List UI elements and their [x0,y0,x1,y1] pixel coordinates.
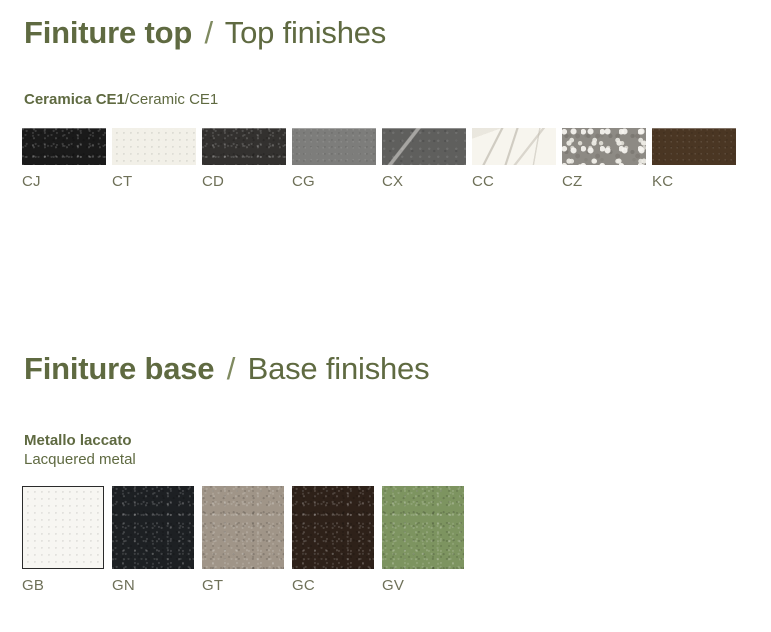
page-title-base-finishes: Finiture base / Base finishes [0,352,771,386]
material-english-lacquered-metal: Lacquered metal [24,450,771,469]
swatch-cell-cj[interactable]: CJ [22,128,112,190]
swatch-cell-cx[interactable]: CX [382,128,472,190]
swatch-color-cd[interactable] [202,128,286,165]
swatch-label-cd: CD [202,173,224,190]
title-english-base: Base finishes [248,351,430,386]
material-label-lacquered-metal: Metallo laccato Lacquered metal [0,431,771,469]
section-top-finishes: Finiture top / Top finishes Ceramica CE1… [0,0,771,190]
title-separator-base: / [223,351,239,386]
swatch-color-cj[interactable] [22,128,106,165]
title-english-top: Top finishes [225,15,386,50]
page-title-top-finishes: Finiture top / Top finishes [0,16,771,50]
swatch-row-ceramic: CJ CT CD CG CX CC [0,128,771,190]
swatch-cell-cz[interactable]: CZ [562,128,652,190]
swatch-label-cg: CG [292,173,315,190]
swatch-color-cz[interactable] [562,128,646,165]
swatch-label-gv: GV [382,577,404,594]
swatch-cell-ct[interactable]: CT [112,128,202,190]
swatch-cell-gt[interactable]: GT [202,486,292,594]
section-base-finishes: Finiture base / Base finishes Metallo la… [0,352,771,594]
swatch-color-gb[interactable] [22,486,104,569]
swatch-label-cc: CC [472,173,494,190]
title-italian-base: Finiture base [24,351,214,386]
swatch-label-cz: CZ [562,173,582,190]
swatch-label-cj: CJ [22,173,41,190]
swatch-cell-cg[interactable]: CG [292,128,382,190]
swatch-color-gc[interactable] [292,486,374,569]
finishes-page: Finiture top / Top finishes Ceramica CE1… [0,0,771,632]
swatch-label-gc: GC [292,577,315,594]
swatch-cell-cc[interactable]: CC [472,128,562,190]
title-separator-top: / [201,15,217,50]
swatch-cell-kc[interactable]: KC [652,128,742,190]
title-italian-top: Finiture top [24,15,192,50]
swatch-cell-gv[interactable]: GV [382,486,472,594]
swatch-cell-gb[interactable]: GB [22,486,112,594]
swatch-label-cx: CX [382,173,403,190]
material-italian-ceramic: Ceramica CE1 [24,91,125,108]
swatch-color-gv[interactable] [382,486,464,569]
swatch-cell-gc[interactable]: GC [292,486,382,594]
swatch-color-kc[interactable] [652,128,736,165]
swatch-label-kc: KC [652,173,673,190]
swatch-color-gt[interactable] [202,486,284,569]
swatch-label-gb: GB [22,577,44,594]
swatch-row-lacquered-metal: GB GN GT GC GV [0,486,771,594]
swatch-label-ct: CT [112,173,132,190]
swatch-color-cc[interactable] [472,128,556,165]
swatch-label-gn: GN [112,577,135,594]
swatch-color-gn[interactable] [112,486,194,569]
swatch-color-cg[interactable] [292,128,376,165]
swatch-cell-gn[interactable]: GN [112,486,202,594]
material-italian-lacquered-metal: Metallo laccato [24,432,132,449]
material-english-ceramic: Ceramic CE1 [129,91,218,108]
swatch-cell-cd[interactable]: CD [202,128,292,190]
swatch-color-cx[interactable] [382,128,466,165]
swatch-color-ct[interactable] [112,128,196,165]
material-label-ceramic: Ceramica CE1/Ceramic CE1 [0,90,771,109]
swatch-label-gt: GT [202,577,223,594]
